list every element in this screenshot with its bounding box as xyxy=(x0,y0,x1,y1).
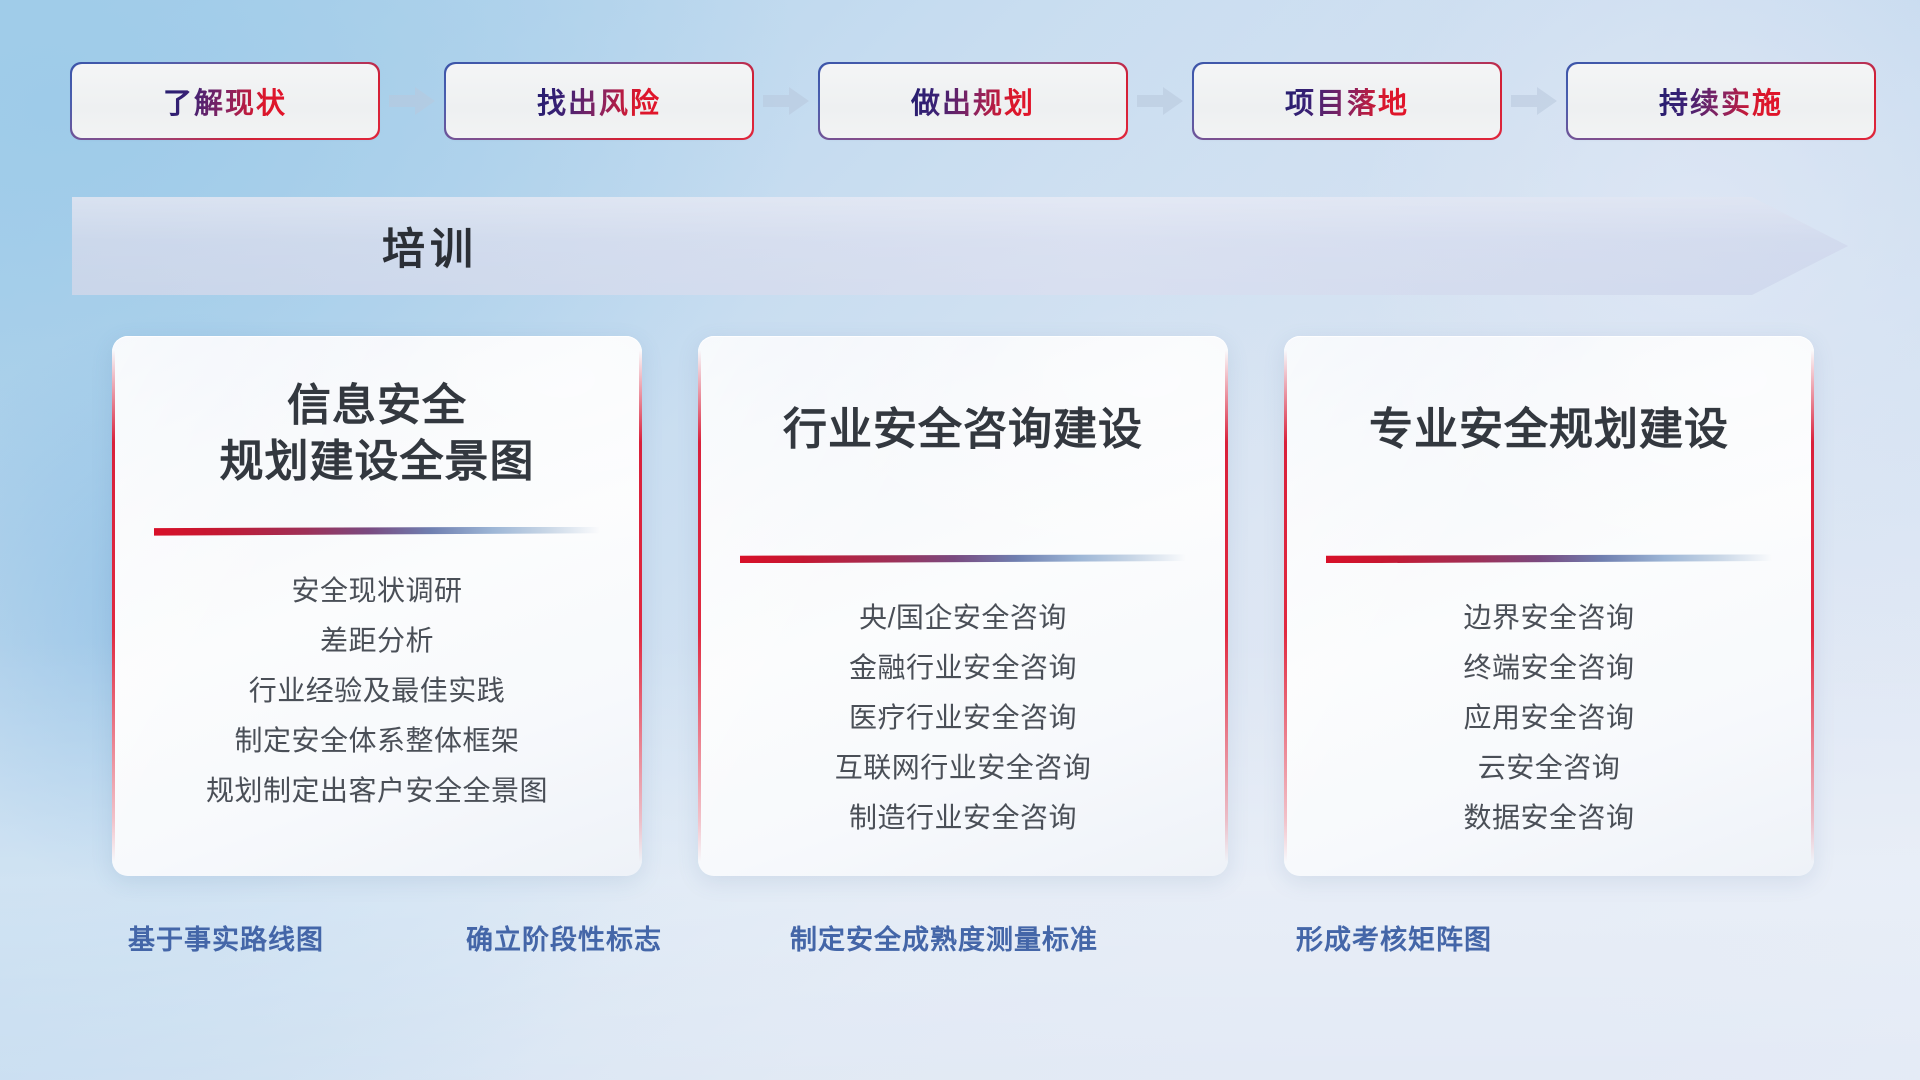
card-divider xyxy=(154,527,600,536)
card-title: 专业安全规划建设 xyxy=(1284,336,1814,458)
service-card-2[interactable]: 行业安全咨询建设央/国企安全咨询金融行业安全咨询医疗行业安全咨询互联网行业安全咨… xyxy=(698,336,1228,876)
slide-canvas: 了解现状找出风险做出规划项目落地持续实施 培训 信息安全规划建设全景图安全现状调… xyxy=(0,0,1920,1080)
card-list-item: 应用安全咨询 xyxy=(1284,693,1814,743)
step-label: 持续实施 xyxy=(1659,80,1783,122)
card-row: 信息安全规划建设全景图安全现状调研差距分析行业经验及最佳实践制定安全体系整体框架… xyxy=(0,336,1920,876)
process-step-row: 了解现状找出风险做出规划项目落地持续实施 xyxy=(0,62,1920,140)
card-list-item: 差距分析 xyxy=(112,616,642,666)
caption-1: 基于事实路线图 xyxy=(128,918,324,957)
card-divider xyxy=(1326,554,1772,563)
step-box-4[interactable]: 项目落地 xyxy=(1194,64,1500,138)
card-list: 安全现状调研差距分析行业经验及最佳实践制定安全体系整体框架规划制定出客户安全全景… xyxy=(112,566,642,816)
step-box-5[interactable]: 持续实施 xyxy=(1568,64,1874,138)
card-title-line2: 规划建设全景图 xyxy=(112,434,642,490)
step-label: 了解现状 xyxy=(163,80,287,122)
card-list-item: 安全现状调研 xyxy=(112,566,642,616)
card-divider xyxy=(740,554,1186,563)
card-list-item: 规划制定出客户安全全景图 xyxy=(112,766,642,816)
banner-label: 培训 xyxy=(72,197,1848,295)
step-box-3[interactable]: 做出规划 xyxy=(820,64,1126,138)
card-list-item: 医疗行业安全咨询 xyxy=(698,693,1228,743)
card-list-item: 央/国企安全咨询 xyxy=(698,593,1228,643)
step-label: 项目落地 xyxy=(1285,80,1409,122)
training-banner: 培训 xyxy=(72,197,1848,295)
step-box-1[interactable]: 了解现状 xyxy=(72,64,378,138)
card-list-item: 云安全咨询 xyxy=(1284,743,1814,793)
card-title-line1: 行业安全咨询建设 xyxy=(698,402,1228,458)
caption-3: 制定安全成熟度测量标准 xyxy=(790,918,1098,957)
arrow-right-icon xyxy=(1509,85,1559,117)
card-list: 边界安全咨询终端安全咨询应用安全咨询云安全咨询数据安全咨询 xyxy=(1284,593,1814,843)
service-card-3[interactable]: 专业安全规划建设边界安全咨询终端安全咨询应用安全咨询云安全咨询数据安全咨询 xyxy=(1284,336,1814,876)
arrow-right-icon xyxy=(761,85,811,117)
card-list-item: 金融行业安全咨询 xyxy=(698,643,1228,693)
card-list-item: 终端安全咨询 xyxy=(1284,643,1814,693)
card-list: 央/国企安全咨询金融行业安全咨询医疗行业安全咨询互联网行业安全咨询制造行业安全咨… xyxy=(698,593,1228,843)
service-card-1[interactable]: 信息安全规划建设全景图安全现状调研差距分析行业经验及最佳实践制定安全体系整体框架… xyxy=(112,336,642,876)
card-list-item: 制造行业安全咨询 xyxy=(698,793,1228,843)
card-title: 行业安全咨询建设 xyxy=(698,336,1228,458)
caption-4: 形成考核矩阵图 xyxy=(1296,918,1492,957)
step-label: 找出风险 xyxy=(537,80,661,122)
card-list-item: 数据安全咨询 xyxy=(1284,793,1814,843)
caption-row: 基于事实路线图确立阶段性标志制定安全成熟度测量标准形成考核矩阵图 xyxy=(0,918,1920,962)
card-list-item: 制定安全体系整体框架 xyxy=(112,716,642,766)
card-list-item: 行业经验及最佳实践 xyxy=(112,666,642,716)
card-list-item: 互联网行业安全咨询 xyxy=(698,743,1228,793)
card-title: 信息安全规划建设全景图 xyxy=(112,336,642,491)
caption-2: 确立阶段性标志 xyxy=(466,918,662,957)
step-box-2[interactable]: 找出风险 xyxy=(446,64,752,138)
step-label: 做出规划 xyxy=(911,80,1035,122)
card-list-item: 边界安全咨询 xyxy=(1284,593,1814,643)
card-title-line1: 信息安全 xyxy=(112,378,642,434)
card-title-line1: 专业安全规划建设 xyxy=(1284,402,1814,458)
arrow-right-icon xyxy=(1135,85,1185,117)
arrow-right-icon xyxy=(387,85,437,117)
